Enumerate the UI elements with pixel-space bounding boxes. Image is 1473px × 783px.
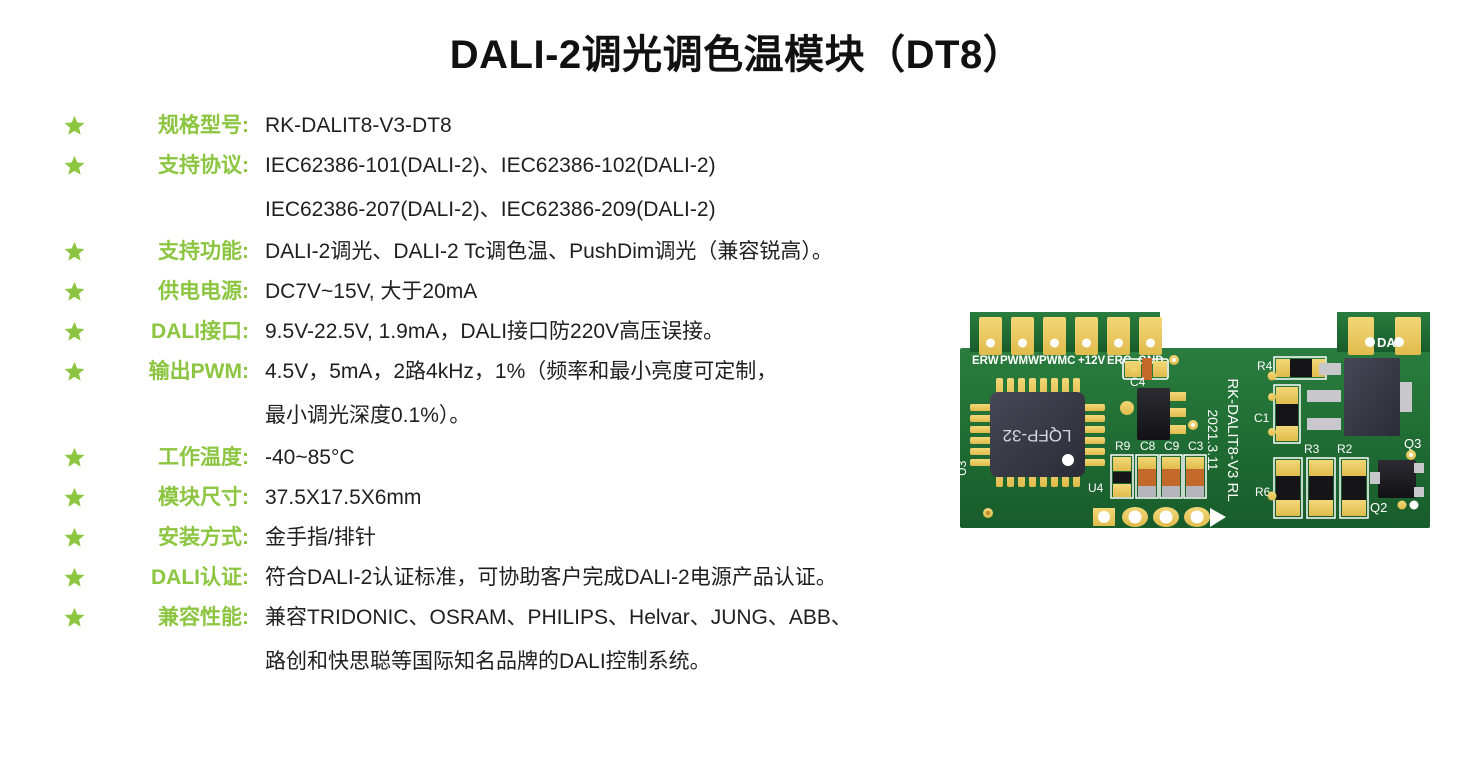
spec-value: 兼容TRIDONIC、OSRAM、PHILIPS、Helvar、JUNG、ABB… <box>249 604 994 676</box>
spec-value: DALI-2调光、DALI-2 Tc调色温、PushDim调光（兼容锐高）。 <box>249 238 994 266</box>
svg-text:R3: R3 <box>1304 442 1320 456</box>
star-bullet <box>64 484 98 508</box>
spec-label: 安装方式: <box>98 524 249 552</box>
spec-value-line: 路创和快思聪等国际知名品牌的DALI控制系统。 <box>265 648 994 676</box>
spec-label: 兼容性能: <box>98 604 249 632</box>
spec-value-line: 4.5V，5mA，2路4kHz，1%（频率和最小亮度可定制， <box>265 358 994 386</box>
spec-row: 安装方式: 金手指/排针 <box>64 524 994 552</box>
spec-label: 支持协议: <box>98 152 249 180</box>
spec-label: 工作温度: <box>98 444 249 472</box>
spec-row: 规格型号: RK-DALIT8-V3-DT8 <box>64 112 994 140</box>
star-icon <box>64 241 85 262</box>
spec-value-line: DALI-2调光、DALI-2 Tc调色温、PushDim调光（兼容锐高）。 <box>265 238 994 266</box>
spec-value-line: DC7V~15V, 大于20mA <box>265 278 994 306</box>
spec-value-line: -40~85°C <box>265 444 994 472</box>
spec-value: 37.5X17.5X6mm <box>249 484 994 512</box>
spec-row: 输出PWM: 4.5V，5mA，2路4kHz，1%（频率和最小亮度可定制， 最小… <box>64 358 994 430</box>
star-bullet <box>64 238 98 262</box>
spec-label: 供电电源: <box>98 278 249 306</box>
star-bullet <box>64 278 98 302</box>
svg-text:C8: C8 <box>1140 439 1156 453</box>
spec-value-line: 金手指/排针 <box>265 524 994 552</box>
star-bullet <box>64 444 98 468</box>
pcb-designator-q2: Q2 <box>1370 500 1387 515</box>
star-bullet <box>64 152 98 176</box>
star-icon <box>64 361 85 382</box>
svg-text:ERW: ERW <box>972 355 999 367</box>
star-icon <box>64 607 85 628</box>
page-title: DALI-2调光调色温模块（DT8） <box>0 22 1473 80</box>
pcb-chip-marking: LQFP-32 <box>1003 426 1072 445</box>
spec-value-line: IEC62386-101(DALI-2)、IEC62386-102(DALI-2… <box>265 152 994 180</box>
pcb-designator-u3: U3 <box>955 460 969 476</box>
star-bullet <box>64 564 98 588</box>
spec-row: 模块尺寸: 37.5X17.5X6mm <box>64 484 994 512</box>
star-icon <box>64 155 85 176</box>
spec-value: -40~85°C <box>249 444 994 472</box>
star-bullet <box>64 112 98 136</box>
star-bullet <box>64 604 98 628</box>
svg-text:R2: R2 <box>1337 442 1353 456</box>
star-icon <box>64 115 85 136</box>
svg-text:C3: C3 <box>1188 439 1204 453</box>
spec-value-line: 9.5V-22.5V, 1.9mA，DALI接口防220V高压误接。 <box>265 318 994 346</box>
spec-label: 输出PWM: <box>98 358 249 386</box>
pcb-silkscreen-date: 2021.3.11 <box>1205 409 1221 470</box>
svg-text:C1: C1 <box>1254 411 1270 425</box>
spec-row: 支持功能: DALI-2调光、DALI-2 Tc调色温、PushDim调光（兼容… <box>64 238 994 266</box>
spec-value: 符合DALI-2认证标准，可协助客户完成DALI-2电源产品认证。 <box>249 564 994 592</box>
star-icon <box>64 321 85 342</box>
pcb-designator-c4: C4 <box>1130 375 1146 389</box>
spec-row: DALI接口: 9.5V-22.5V, 1.9mA，DALI接口防220V高压误… <box>64 318 994 346</box>
spec-row: DALI认证: 符合DALI-2认证标准，可协助客户完成DALI-2电源产品认证… <box>64 564 994 592</box>
star-icon <box>64 281 85 302</box>
spec-value: RK-DALIT8-V3-DT8 <box>249 112 994 140</box>
svg-text:R9: R9 <box>1115 439 1131 453</box>
star-bullet <box>64 358 98 382</box>
svg-text:C9: C9 <box>1164 439 1180 453</box>
svg-text:R4: R4 <box>1257 359 1273 373</box>
svg-text:PWMW: PWMW <box>1000 355 1039 367</box>
svg-text:PWMC: PWMC <box>1039 355 1075 367</box>
pcb-product-image: DA ERW PWMW PWMC +12V ERC GND <box>952 300 1437 545</box>
spec-label: 规格型号: <box>98 112 249 140</box>
spec-label: DALI接口: <box>98 318 249 346</box>
spec-label: DALI认证: <box>98 564 249 592</box>
spec-value: 4.5V，5mA，2路4kHz，1%（频率和最小亮度可定制， 最小调光深度0.1… <box>249 358 994 430</box>
spec-value: DC7V~15V, 大于20mA <box>249 278 994 306</box>
pcb-silkscreen-part-number: RK-DALIT8-V3 RL <box>1224 378 1241 501</box>
spec-value-line: 兼容TRIDONIC、OSRAM、PHILIPS、Helvar、JUNG、ABB… <box>265 604 994 632</box>
spec-value-line: RK-DALIT8-V3-DT8 <box>265 112 994 140</box>
spec-row: 兼容性能: 兼容TRIDONIC、OSRAM、PHILIPS、Helvar、JU… <box>64 604 994 676</box>
spec-row: 供电电源: DC7V~15V, 大于20mA <box>64 278 994 306</box>
star-icon <box>64 527 85 548</box>
pcb-designator-q3: Q3 <box>1404 436 1421 451</box>
spec-value-line: IEC62386-207(DALI-2)、IEC62386-209(DALI-2… <box>265 196 994 224</box>
spec-label: 支持功能: <box>98 238 249 266</box>
star-bullet <box>64 524 98 548</box>
star-icon <box>64 447 85 468</box>
spec-row: 工作温度: -40~85°C <box>64 444 994 472</box>
spec-value-line: 最小调光深度0.1%）。 <box>265 402 994 430</box>
spec-value: IEC62386-101(DALI-2)、IEC62386-102(DALI-2… <box>249 152 994 224</box>
spec-value-line: 符合DALI-2认证标准，可协助客户完成DALI-2电源产品认证。 <box>265 564 994 592</box>
star-icon <box>64 567 85 588</box>
spec-value: 金手指/排针 <box>249 524 994 552</box>
spec-list: 规格型号: RK-DALIT8-V3-DT8 支持协议: IEC62386-10… <box>64 112 994 690</box>
pcb-designator-u4: U4 <box>1088 481 1104 495</box>
spec-label: 模块尺寸: <box>98 484 249 512</box>
spec-value: 9.5V-22.5V, 1.9mA，DALI接口防220V高压误接。 <box>249 318 994 346</box>
star-bullet <box>64 318 98 342</box>
spec-row: 支持协议: IEC62386-101(DALI-2)、IEC62386-102(… <box>64 152 994 224</box>
spec-value-line: 37.5X17.5X6mm <box>265 484 994 512</box>
pcb-dali-pad-label: DA <box>1377 335 1396 350</box>
star-icon <box>64 487 85 508</box>
svg-text:+12V: +12V <box>1078 355 1106 367</box>
